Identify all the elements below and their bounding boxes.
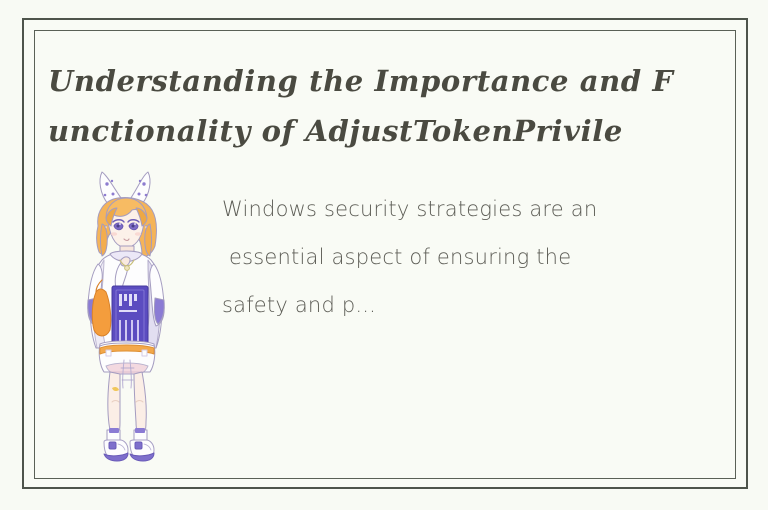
body-line-3: safety and p... bbox=[222, 281, 692, 329]
body-paragraph: Windows security strategies are an essen… bbox=[222, 185, 692, 329]
page-title-line-2: unctionality of AdjustTokenPrivile bbox=[48, 106, 748, 156]
slide-canvas: Understanding the Importance and F uncti… bbox=[0, 0, 768, 510]
sneakers bbox=[104, 428, 154, 461]
page-title-line-1: Understanding the Importance and F bbox=[48, 56, 748, 106]
body-line-2: essential aspect of ensuring the bbox=[222, 233, 692, 281]
body-line-1: Windows security strategies are an bbox=[222, 185, 692, 233]
anime-girl-illustration bbox=[62, 168, 190, 468]
page-title: Understanding the Importance and F uncti… bbox=[48, 56, 748, 156]
